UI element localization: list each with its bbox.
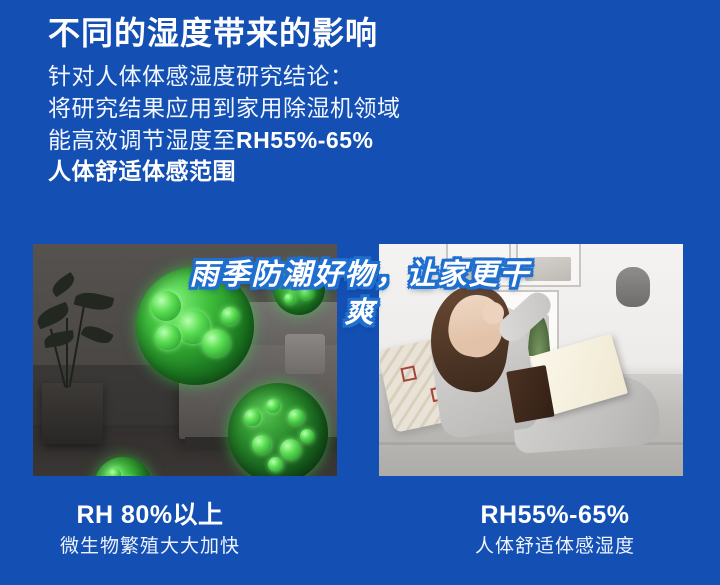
caption-comfort-value: RH55%-65%: [405, 500, 705, 531]
bacteria-cluster-icon: [273, 263, 325, 315]
bacteria-cluster-icon: [228, 383, 328, 476]
intro-paragraph: 针对人体体感湿度研究结论： 将研究结果应用到家用除湿机领域 能高效调节湿度至RH…: [48, 61, 668, 188]
bacteria-dot: [221, 307, 239, 325]
plant-pot: [42, 383, 103, 443]
caption-humid: RH 80%以上 微生物繁殖大大加快: [0, 500, 300, 559]
page-title: 不同的湿度带来的影响: [48, 14, 668, 53]
dark-living-room-illustration: [33, 244, 337, 476]
photo-humid-room: [33, 244, 337, 476]
photo-comfort-room: [379, 244, 683, 476]
bacteria-dot: [202, 329, 230, 357]
bacteria-dot: [268, 457, 283, 472]
bacteria-dot: [300, 429, 314, 443]
bacteria-dot: [300, 286, 313, 299]
bright-living-room-illustration: [379, 244, 683, 476]
bacteria-dot: [244, 409, 261, 426]
bacteria-dot: [155, 324, 181, 350]
intro-line-1: 针对人体体感湿度研究结论：: [48, 61, 668, 93]
intro-line-4: 人体舒适体感范围: [48, 156, 668, 188]
bacteria-dot: [288, 409, 304, 425]
bacteria-dot: [151, 291, 181, 321]
woman-reading: [379, 244, 683, 476]
intro-line-2: 将研究结果应用到家用除湿机领域: [48, 93, 668, 125]
bacteria-dot: [266, 399, 280, 413]
bacteria-cluster-icon: [136, 267, 254, 385]
bacteria-dot: [284, 293, 295, 304]
bacteria-dot: [252, 435, 271, 454]
caption-humid-description: 微生物繁殖大大加快: [0, 535, 300, 559]
bacteria-dot: [280, 439, 301, 460]
header-block: 不同的湿度带来的影响 针对人体体感湿度研究结论： 将研究结果应用到家用除湿机领域…: [48, 14, 668, 188]
caption-humid-value: RH 80%以上: [0, 500, 300, 531]
caption-comfort: RH55%-65% 人体舒适体感湿度: [405, 500, 705, 559]
intro-line-3: 能高效调节湿度至RH55%-65%: [48, 125, 668, 157]
plant-stem: [66, 318, 68, 388]
intro-line-3-highlight: RH55%-65%: [236, 127, 373, 153]
caption-comfort-description: 人体舒适体感湿度: [405, 535, 705, 559]
bacteria-dot: [108, 468, 121, 476]
intro-line-3-prefix: 能高效调节湿度至: [48, 127, 236, 153]
poster-canvas: 不同的湿度带来的影响 针对人体体感湿度研究结论： 将研究结果应用到家用除湿机领域…: [0, 0, 720, 585]
cushion: [285, 334, 325, 373]
